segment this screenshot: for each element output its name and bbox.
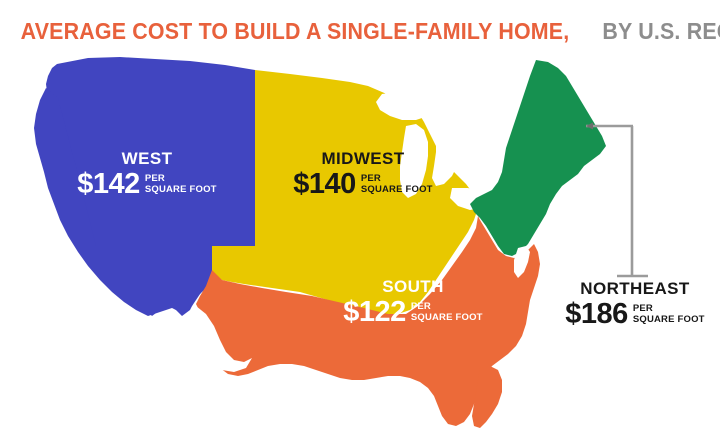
region-name-midwest: MIDWEST — [268, 150, 458, 168]
region-unit-midwest: PER SQUARE FOOT — [361, 174, 433, 195]
region-price-midwest: $140 — [293, 171, 356, 199]
unit-line2-west: SQUARE FOOT — [145, 185, 217, 196]
lake-michigan-bay-gap — [424, 106, 458, 128]
region-name-west: WEST — [52, 150, 242, 168]
price-row-west: $142 PER SQUARE FOOT — [52, 171, 242, 199]
region-price-northeast: $186 — [565, 301, 628, 329]
region-unit-northeast: PER SQUARE FOOT — [633, 304, 705, 325]
price-row-south: $122 PER SQUARE FOOT — [318, 299, 508, 327]
region-price-south: $122 — [343, 299, 406, 327]
chart-title-sub: BY U.S. REGION — [602, 18, 720, 45]
region-unit-south: PER SQUARE FOOT — [411, 302, 483, 323]
region-unit-west: PER SQUARE FOOT — [145, 174, 217, 195]
chart-title-main: AVERAGE COST TO BUILD A SINGLE-FAMILY HO… — [21, 18, 570, 45]
us-region-map — [0, 48, 720, 439]
infographic-root: AVERAGE COST TO BUILD A SINGLE-FAMILY HO… — [0, 0, 720, 439]
unit-line2-south: SQUARE FOOT — [411, 313, 483, 324]
unit-line2-northeast: SQUARE FOOT — [633, 315, 705, 326]
chart-title: AVERAGE COST TO BUILD A SINGLE-FAMILY HO… — [0, 18, 720, 45]
price-row-northeast: $186 PER SQUARE FOOT — [550, 301, 720, 329]
region-price-west: $142 — [77, 171, 140, 199]
region-label-south[interactable]: SOUTH $122 PER SQUARE FOOT — [318, 278, 508, 326]
region-label-midwest[interactable]: MIDWEST $140 PER SQUARE FOOT — [268, 150, 458, 198]
map-region-northeast[interactable] — [470, 60, 606, 256]
region-label-northeast[interactable]: NORTHEAST $186 PER SQUARE FOOT — [550, 280, 720, 328]
price-row-midwest: $140 PER SQUARE FOOT — [268, 171, 458, 199]
unit-line2-midwest: SQUARE FOOT — [361, 185, 433, 196]
region-name-south: SOUTH — [318, 278, 508, 296]
region-name-northeast: NORTHEAST — [550, 280, 720, 298]
region-label-west[interactable]: WEST $142 PER SQUARE FOOT — [52, 150, 242, 198]
